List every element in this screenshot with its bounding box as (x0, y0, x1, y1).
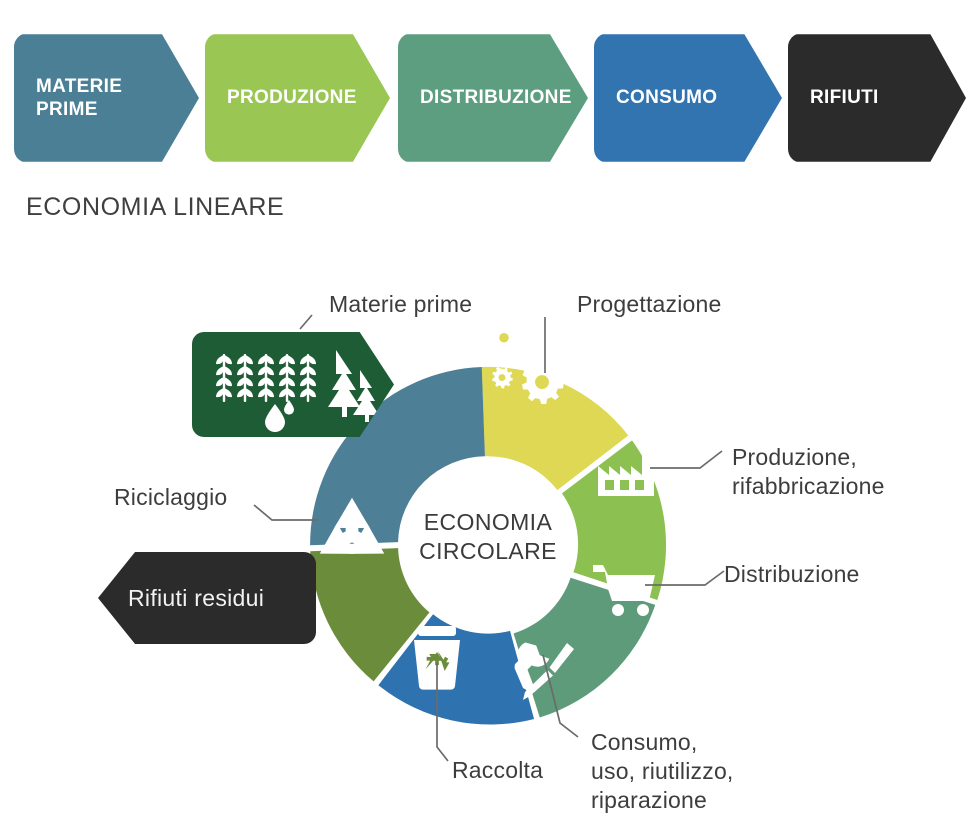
center-label-line2: CIRCOLARE (399, 537, 577, 566)
wheat-icon (216, 354, 316, 402)
linear-stage-label-line1: RIFIUTI (810, 86, 879, 109)
linear-stage-rifiuti[interactable]: RIFIUTI (788, 33, 966, 163)
linear-stage-consumo[interactable]: CONSUMO (594, 33, 782, 163)
center-label-line1: ECONOMIA (399, 508, 577, 537)
linear-stage-label-line2: PRIME (36, 98, 122, 121)
economia-lineare-caption: ECONOMIA LINEARE (26, 193, 284, 222)
linear-stage-label-line1: CONSUMO (616, 86, 717, 109)
linear-stage-label-line1: DISTRIBUZIONE (420, 86, 572, 109)
input-callout-materie-prime[interactable] (192, 332, 394, 437)
materie-prime-icons (192, 332, 394, 437)
label-materie-prime: Materie prime (329, 290, 472, 319)
label-consumo: Consumo, uso, riutilizzo, riparazione (591, 728, 734, 815)
linear-stage-distribuzione[interactable]: DISTRIBUZIONE (398, 33, 588, 163)
trees-icon (328, 350, 379, 422)
linear-stage-label-line1: PRODUZIONE (227, 86, 357, 109)
linear-economy-diagram: MATERIE PRIME PRODUZIONE DISTRIBUZIONE C… (0, 0, 980, 175)
linear-stage-produzione[interactable]: PRODUZIONE (205, 33, 390, 163)
label-progettazione: Progettazione (577, 290, 722, 319)
circular-economy-diagram: ECONOMIA CIRCOLARE (0, 255, 980, 819)
output-callout-rifiuti-residui[interactable]: Rifiuti residui (98, 552, 316, 644)
label-raccolta: Raccolta (452, 756, 543, 785)
donut-center-label: ECONOMIA CIRCOLARE (399, 508, 577, 567)
label-riciclaggio: Riciclaggio (114, 483, 227, 512)
water-drop-icon (265, 400, 294, 432)
linear-stage-label-line1: MATERIE (36, 75, 122, 98)
output-callout-label: Rifiuti residui (128, 585, 264, 612)
linear-stage-materie-prime[interactable]: MATERIE PRIME (14, 33, 199, 163)
label-distribuzione: Distribuzione (724, 560, 860, 589)
label-produzione: Produzione, rifabbricazione (732, 443, 885, 501)
